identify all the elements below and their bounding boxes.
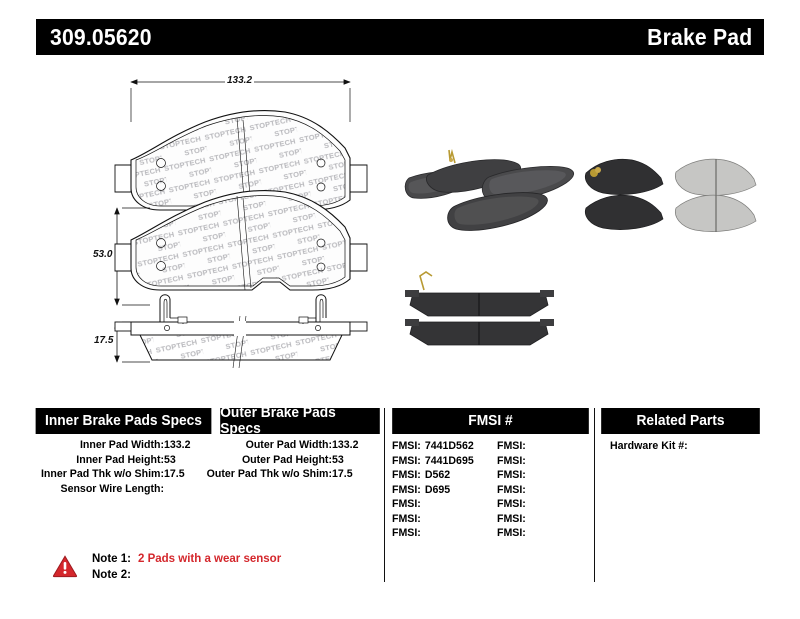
fmsi-row: FMSI: <box>392 497 489 512</box>
fmsi-row: FMSI: <box>497 483 594 498</box>
fmsi-row: FMSI: <box>497 512 594 527</box>
fmsi-label: FMSI: <box>392 440 421 452</box>
four-pads-flat-photo <box>585 159 756 232</box>
related-parts-column: Hardware Kit #: <box>594 439 761 582</box>
header-fmsi: FMSI # <box>392 408 589 434</box>
spec-row: Sensor Wire Length: <box>31 483 216 498</box>
spec-label: Inner Pad Width: <box>80 439 164 451</box>
two-pads-edge-photo <box>405 272 554 345</box>
note-1-label: Note 1: <box>92 551 138 567</box>
fmsi-subcolumn-right: FMSI: FMSI: FMSI: FMSI: FMSI: FMSI: FMSI… <box>489 439 594 582</box>
spec-value: 133.2 <box>164 439 210 451</box>
fmsi-value: 7441D695 <box>425 455 474 467</box>
technical-drawings-svg: STOPTECH STOPTECH <box>0 60 800 390</box>
fmsi-label: FMSI: <box>392 498 421 510</box>
fmsi-label: FMSI: <box>497 469 526 481</box>
fmsi-label: FMSI: <box>392 455 421 467</box>
spec-row: Outer Pad Width:133.2 <box>216 439 384 454</box>
fmsi-value: D695 <box>425 484 450 496</box>
fmsi-row: FMSI: <box>497 468 594 483</box>
fmsi-row: FMSI: <box>392 512 489 527</box>
column-divider-right <box>594 408 595 582</box>
related-part-row: Hardware Kit #: <box>610 439 761 454</box>
pad-edge-drawing <box>115 295 367 368</box>
dimension-label-width: 133.2 <box>225 75 254 86</box>
spec-label: Outer Pad Height: <box>242 454 332 466</box>
spec-value: 133.2 <box>332 439 378 451</box>
fmsi-label: FMSI: <box>497 513 526 525</box>
fmsi-label: FMSI: <box>392 527 421 539</box>
fmsi-row: FMSI:7441D695 <box>392 454 489 469</box>
spec-row: Inner Pad Width:133.2 <box>31 439 216 454</box>
fmsi-label: FMSI: <box>497 527 526 539</box>
fmsi-row: FMSI: <box>497 454 594 469</box>
fmsi-row: FMSI: <box>497 526 594 541</box>
inner-pad-face-drawing <box>115 82 367 210</box>
product-title: Brake Pad <box>647 24 752 51</box>
fmsi-row: FMSI:7441D562 <box>392 439 489 454</box>
fmsi-label: FMSI: <box>392 513 421 525</box>
note-1-text: 2 Pads with a wear sensor <box>138 553 281 565</box>
fmsi-label: FMSI: <box>392 469 421 481</box>
fmsi-label: FMSI: <box>497 484 526 496</box>
four-pads-angled-photo <box>405 150 574 230</box>
note-2-line: Note 2: <box>92 567 281 583</box>
part-number: 309.05620 <box>50 24 152 51</box>
spec-row: Outer Pad Thk w/o Shim:17.5 <box>216 468 384 483</box>
fmsi-subcolumn-left: FMSI:7441D562 FMSI:7441D695 FMSI:D562 FM… <box>384 439 489 582</box>
fmsi-row: FMSI: <box>497 439 594 454</box>
warning-triangle-icon <box>52 554 78 578</box>
spec-label: Inner Pad Height: <box>76 454 164 466</box>
spec-label: Inner Pad Thk w/o Shim: <box>41 468 164 480</box>
note-1-line: Note 1:2 Pads with a wear sensor <box>92 551 281 567</box>
dimension-label-height: 53.0 <box>91 249 114 260</box>
header-bar: 309.05620 Brake Pad <box>36 19 764 55</box>
hardware-kit-label: Hardware Kit #: <box>610 440 688 452</box>
fmsi-value: 7441D562 <box>425 440 474 452</box>
table-header-row: Inner Brake Pads Specs Outer Brake Pads … <box>31 408 764 434</box>
fmsi-label: FMSI: <box>497 455 526 467</box>
spec-value: 17.5 <box>164 468 210 480</box>
spec-label: Outer Pad Width: <box>246 439 332 451</box>
fmsi-row: FMSI: <box>392 526 489 541</box>
spec-row: Outer Pad Height:53 <box>216 454 384 469</box>
header-related-parts: Related Parts <box>601 408 760 434</box>
fmsi-row: FMSI:D695 <box>392 483 489 498</box>
dimension-label-thickness: 17.5 <box>92 335 115 346</box>
header-outer-specs: Outer Brake Pads Specs <box>220 408 380 434</box>
fmsi-value: D562 <box>425 469 450 481</box>
notes-area: Note 1:2 Pads with a wear sensor Note 2: <box>52 551 281 583</box>
spec-value: 17.5 <box>332 468 378 480</box>
fmsi-label: FMSI: <box>497 440 526 452</box>
fmsi-label: FMSI: <box>392 484 421 496</box>
fmsi-row: FMSI:D562 <box>392 468 489 483</box>
fmsi-label: FMSI: <box>497 498 526 510</box>
column-divider-left <box>384 408 385 582</box>
spec-row <box>216 483 384 498</box>
notes-text-block: Note 1:2 Pads with a wear sensor Note 2: <box>92 551 281 583</box>
spec-label: Sensor Wire Length: <box>61 483 165 495</box>
note-2-label: Note 2: <box>92 567 138 583</box>
spec-value: 53 <box>164 454 210 466</box>
header-inner-specs: Inner Brake Pads Specs <box>36 408 212 434</box>
spec-row: Inner Pad Height:53 <box>31 454 216 469</box>
spec-label: Outer Pad Thk w/o Shim: <box>207 468 332 480</box>
drawings-and-photos-area: STOPTECH STOPTECH <box>0 60 800 390</box>
spec-row: Inner Pad Thk w/o Shim:17.5 <box>31 468 216 483</box>
fmsi-row: FMSI: <box>497 497 594 512</box>
fmsi-column: FMSI:7441D562 FMSI:7441D695 FMSI:D562 FM… <box>384 439 594 582</box>
spec-value: 53 <box>332 454 378 466</box>
